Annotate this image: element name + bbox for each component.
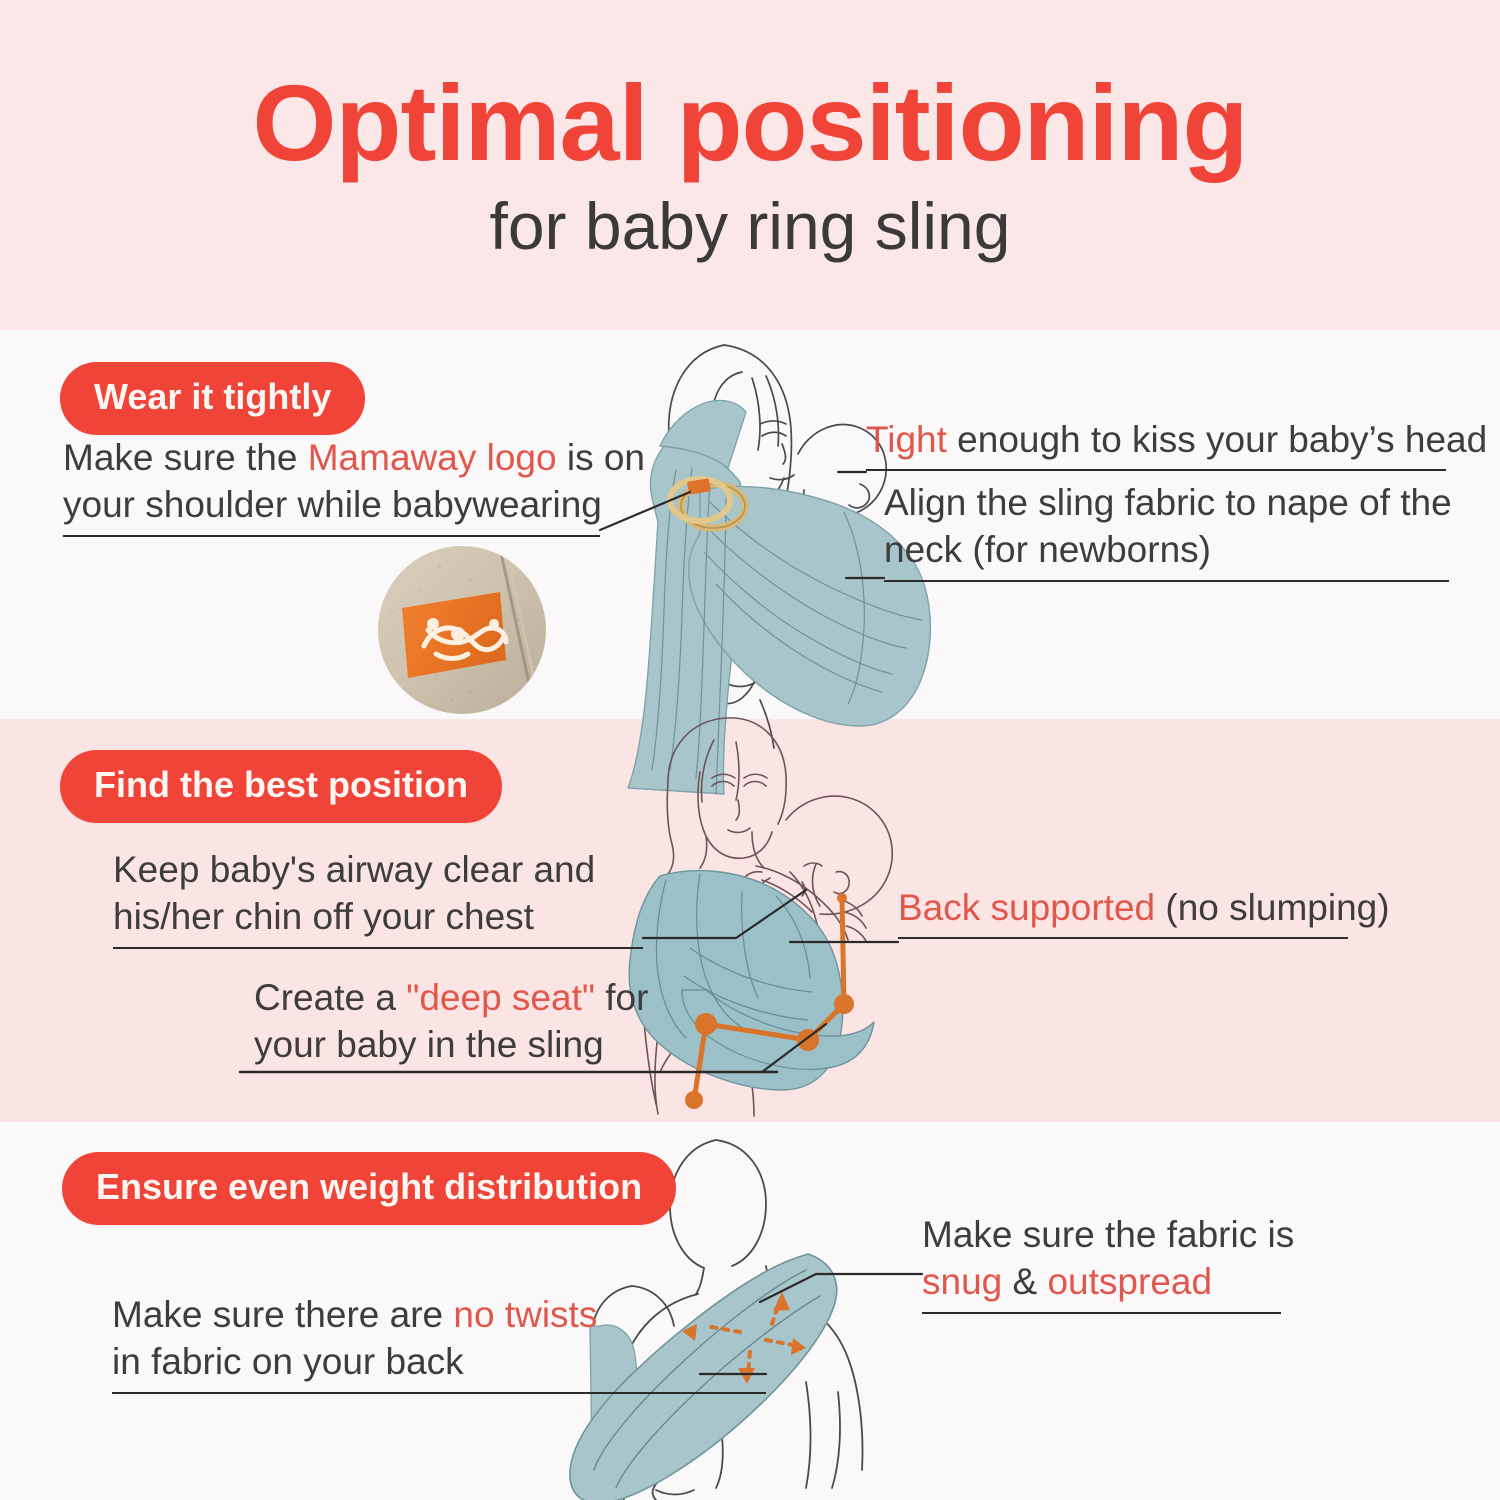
plain-text: Align the sling fabric to nape of the xyxy=(884,482,1452,523)
plain-text: Make sure the fabric is xyxy=(922,1214,1294,1255)
highlight-text: Mamaway logo xyxy=(308,437,557,478)
callout-line: your baby in the sling xyxy=(254,1021,648,1068)
plain-text: Keep baby's airway clear and xyxy=(113,849,595,890)
callout-rule xyxy=(898,937,1348,939)
badge-find-the-best-position: Find the best position xyxy=(60,750,502,823)
badge-ensure-even-weight-distribution: Ensure even weight distribution xyxy=(62,1152,676,1225)
badge-wear-it-tightly: Wear it tightly xyxy=(60,362,365,435)
callout-rule xyxy=(112,1392,766,1394)
highlight-text: outspread xyxy=(1047,1261,1212,1302)
highlight-text: "deep seat" xyxy=(406,977,595,1018)
callout-line: your shoulder while babywearing xyxy=(63,481,645,528)
plain-text: for xyxy=(595,977,648,1018)
callout-text: Make sure there are no twistsin fabric o… xyxy=(112,1291,766,1386)
callout-text: Tight enough to kiss your baby’s head xyxy=(866,416,1487,463)
callout-line: Make sure the Mamaway logo is on xyxy=(63,434,645,481)
callout-rule xyxy=(922,1312,1281,1314)
callout-snug-outspread: Make sure the fabric issnug & outspread xyxy=(922,1211,1294,1314)
callout-line: snug & outspread xyxy=(922,1258,1294,1305)
callout-rule xyxy=(884,580,1449,582)
callout-line: Align the sling fabric to nape of the xyxy=(884,479,1452,526)
highlight-text: no twists xyxy=(453,1294,597,1335)
callout-rule xyxy=(866,469,1446,471)
plain-text: your shoulder while babywearing xyxy=(63,484,602,525)
highlight-text: Back supported xyxy=(898,887,1155,928)
plain-text: Create a xyxy=(254,977,406,1018)
callout-no-twists: Make sure there are no twistsin fabric o… xyxy=(112,1291,766,1394)
callout-line: Back supported (no slumping) xyxy=(898,884,1390,931)
callout-text: Keep baby's airway clear andhis/her chin… xyxy=(113,846,643,941)
callout-line: in fabric on your back xyxy=(112,1338,766,1385)
highlight-text: snug xyxy=(922,1261,1002,1302)
callout-back-supported: Back supported (no slumping) xyxy=(898,884,1390,939)
callout-line: Make sure the fabric is xyxy=(922,1211,1294,1258)
callout-rule xyxy=(63,535,600,537)
callout-line: Make sure there are no twists xyxy=(112,1291,766,1338)
callout-text: Make sure the fabric issnug & outspread xyxy=(922,1211,1294,1306)
plain-text: Make sure there are xyxy=(112,1294,453,1335)
callout-mamaway-logo: Make sure the Mamaway logo is onyour sho… xyxy=(63,434,645,537)
callout-line: Keep baby's airway clear and xyxy=(113,846,643,893)
plain-text: neck (for newborns) xyxy=(884,529,1211,570)
plain-text: & xyxy=(1002,1261,1047,1302)
plain-text: enough to kiss your baby’s head xyxy=(947,419,1487,460)
callout-text: Back supported (no slumping) xyxy=(898,884,1390,931)
highlight-text: Tight xyxy=(866,419,947,460)
callout-rule xyxy=(113,947,643,949)
callout-line: Create a "deep seat" for xyxy=(254,974,648,1021)
infographic-page: Optimal positioning for baby ring sling xyxy=(0,0,1500,1500)
callout-text: Create a "deep seat" foryour baby in the… xyxy=(254,974,648,1069)
callout-tight-enough: Tight enough to kiss your baby’s head xyxy=(866,416,1487,471)
plain-text: in fabric on your back xyxy=(112,1341,464,1382)
callout-airway-clear: Keep baby's airway clear andhis/her chin… xyxy=(113,846,643,949)
callout-line: his/her chin off your chest xyxy=(113,893,643,940)
callout-deep-seat: Create a "deep seat" foryour baby in the… xyxy=(254,974,648,1069)
callout-line: neck (for newborns) xyxy=(884,526,1452,573)
plain-text: Make sure the xyxy=(63,437,308,478)
plain-text: is on xyxy=(557,437,645,478)
callout-line: Tight enough to kiss your baby’s head xyxy=(866,416,1487,463)
plain-text: his/her chin off your chest xyxy=(113,896,534,937)
page-title: Optimal positioning xyxy=(0,66,1500,179)
callout-align-nape: Align the sling fabric to nape of thenec… xyxy=(884,479,1452,582)
plain-text: your baby in the sling xyxy=(254,1024,604,1065)
callout-text: Make sure the Mamaway logo is onyour sho… xyxy=(63,434,645,529)
callout-text: Align the sling fabric to nape of thenec… xyxy=(884,479,1452,574)
plain-text: (no slumping) xyxy=(1155,887,1389,928)
page-subtitle: for baby ring sling xyxy=(0,190,1500,263)
